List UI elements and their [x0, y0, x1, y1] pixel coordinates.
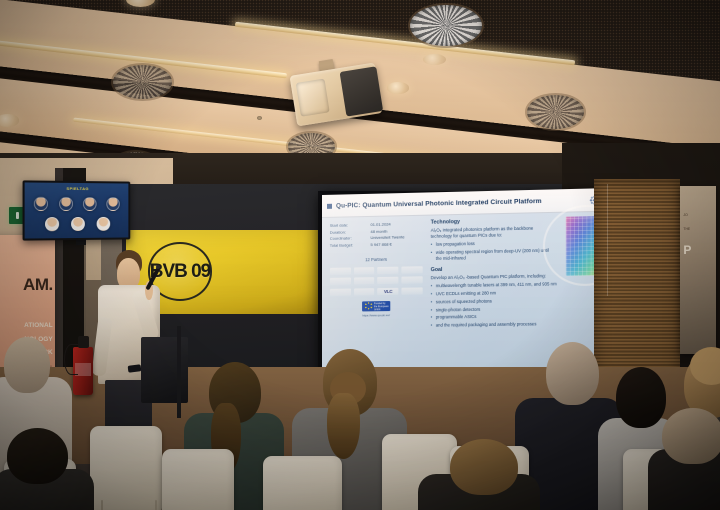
partner-logo — [377, 266, 398, 273]
poster-line-top: JO — [683, 213, 687, 218]
tv-player-portrait — [34, 197, 48, 211]
project-meta-table: Start date: 01.01.2024 Duration: 48 mont… — [330, 221, 423, 249]
chair-leg — [101, 500, 103, 510]
partner-logo — [353, 277, 374, 284]
tv-player-portrait — [71, 217, 85, 231]
partners-count-label: 12 Partners — [330, 256, 423, 263]
tv-player-portrait — [96, 217, 110, 231]
partner-logo — [353, 267, 374, 274]
right-poster: JO THE P — [680, 186, 716, 354]
partner-logo — [330, 267, 351, 274]
audience-member-9-head — [662, 408, 720, 464]
partner-logo-vlc: VLC — [377, 288, 398, 295]
sprinkler-head — [257, 116, 262, 120]
tv-portrait-row-2 — [25, 217, 129, 232]
conference-room-photo: BVB 09 AM. ATIONAL NOLOGY ETWORK support… — [0, 0, 720, 510]
audience-member-8-head — [7, 428, 68, 484]
extinguisher-hose — [64, 344, 78, 375]
tv-player-portrait — [45, 217, 59, 231]
audience-member-1-head — [4, 337, 51, 393]
tv-portrait-row-1 — [25, 197, 129, 211]
technology-intro: Al₂O₃ integrated photonics platform as t… — [431, 225, 550, 240]
goal-bullet: and the required packaging and assembly … — [431, 321, 596, 329]
tv-player-portrait — [83, 197, 97, 211]
chair — [90, 426, 162, 510]
meta-key: Total Budget: — [330, 242, 371, 249]
tv-player-portrait — [59, 197, 73, 211]
av-equipment-box — [141, 337, 188, 403]
meta-value: 5 947 868 € — [370, 241, 422, 249]
air-vent-2 — [113, 65, 172, 99]
banner-big-text: AM. — [23, 275, 53, 295]
projector-lens — [295, 79, 329, 117]
downlight-1 — [126, 0, 155, 7]
eu-funding-flag: Funded by the European Union — [362, 301, 390, 311]
audience-member-3-ponytail — [327, 393, 360, 459]
partner-logo-grid: VLC — [330, 266, 423, 296]
chair-leg — [155, 500, 157, 510]
audience-member-4-head — [450, 439, 518, 495]
chair — [263, 456, 342, 510]
blinds-cord — [607, 184, 608, 296]
meta-row: Total Budget: 5 947 868 € — [330, 241, 423, 249]
technology-bullet: wide operating spectral region from deep… — [431, 248, 550, 263]
downlight-2 — [387, 82, 409, 93]
projector-body — [339, 66, 383, 116]
banner-line-1: ATIONAL — [24, 322, 53, 329]
poster-big-letter: P — [683, 243, 691, 257]
exit-running-man-icon — [16, 212, 19, 219]
tv-title-text: SPIELTAG — [25, 186, 129, 192]
partner-logo — [353, 288, 374, 295]
extinguisher-valve — [78, 336, 89, 348]
wall-mounted-tv: SPIELTAG — [23, 180, 131, 240]
partner-logo — [402, 287, 423, 294]
partner-logo — [377, 277, 398, 284]
audience-member-5-head — [546, 342, 599, 406]
slide-title: Qu-PIC: Quantum Universal Photonic Integ… — [336, 198, 542, 210]
partner-logo — [330, 288, 351, 295]
air-vent-1 — [410, 5, 482, 47]
eu-funding-text: Funded by the European Union — [374, 302, 389, 312]
downlight-3 — [0, 114, 19, 126]
chair — [162, 449, 234, 510]
eu-stars-icon — [364, 303, 373, 310]
audience-member-6-head — [616, 367, 666, 428]
partner-logo — [402, 266, 423, 273]
mic-stand — [177, 326, 181, 418]
poster-line-sub: THE — [683, 227, 690, 232]
slide-header-bullet-icon — [327, 204, 332, 209]
tv-player-portrait — [107, 197, 120, 211]
partner-logo — [402, 277, 423, 284]
project-url: https://www.qu-pic.eu/ — [330, 312, 423, 317]
tv-screen: SPIELTAG — [25, 182, 129, 238]
ceiling-led-strip-3 — [613, 0, 720, 8]
partner-logo — [330, 278, 351, 285]
